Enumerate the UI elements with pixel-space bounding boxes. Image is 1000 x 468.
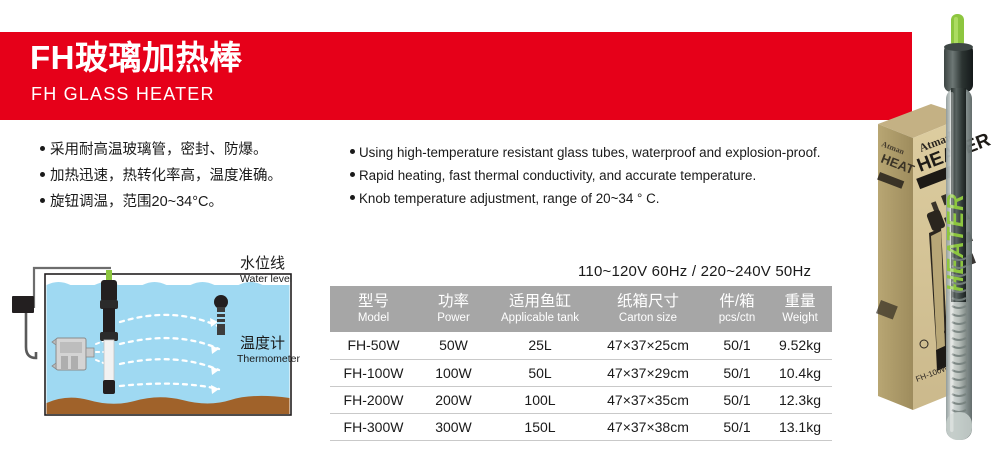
bullet-dot-icon [40,198,45,203]
cell-power: 100W [417,359,490,386]
column-header-pcs-per-ctn: 件/箱 pcs/ctn [706,286,768,332]
cell-weight: 9.52kg [768,332,832,359]
list-item: Using high-temperature resistant glass t… [350,143,860,162]
table-row: FH-100W 100W 50L 47×37×29cm 50/1 10.4kg [330,359,832,386]
cell-pcs: 50/1 [706,386,768,413]
bullet-dot-icon [350,195,355,200]
table-row: FH-200W 200W 100L 47×37×35cm 50/1 12.3kg [330,386,832,413]
water-level-label-en: Water level [240,273,292,285]
cell-pcs: 50/1 [706,413,768,440]
table-body: FH-50W 50W 25L 47×37×25cm 50/1 9.52kg FH… [330,332,832,440]
cell-model: FH-200W [330,386,417,413]
cell-carton: 47×37×38cm [590,413,706,440]
cell-power: 300W [417,413,490,440]
heater-rod-product: HEATER [942,14,973,440]
rod-black-cap [944,44,973,92]
feature-text: 采用耐高温玻璃管，密封、防爆。 [50,140,268,160]
cell-carton: 47×37×29cm [590,359,706,386]
controller-box-icon [12,296,34,313]
aquarium-diagram: 水位线 Water level 温度计 Thermometer [8,252,328,457]
table-row: FH-300W 300W 150L 47×37×38cm 50/1 13.1kg [330,413,832,440]
column-header-applicable-tank: 适用鱼缸 Applicable tank [490,286,590,332]
cell-carton: 47×37×35cm [590,386,706,413]
rod-bottom-tip [946,412,972,440]
list-item: 采用耐高温玻璃管，密封、防爆。 [40,140,340,160]
product-box: Atman HEATER [876,104,994,410]
power-cord-lower [26,308,36,358]
cell-tank: 25L [490,332,590,359]
bullet-dot-icon [350,149,355,154]
cell-weight: 13.1kg [768,413,832,440]
cell-weight: 10.4kg [768,359,832,386]
thermometer-label-cn: 温度计 [240,335,285,352]
table-header: 型号 Model 功率 Power 适用鱼缸 Applicable tank 纸… [330,286,832,332]
cell-tank: 150L [490,413,590,440]
rod-heater-label: HEATER [942,193,968,292]
list-item: 加热迅速，热转化率高，温度准确。 [40,166,340,186]
cell-weight: 12.3kg [768,386,832,413]
product-spec-sheet: FH玻璃加热棒 FH GLASS HEATER 采用耐高温玻璃管，密封、防爆。 … [0,0,1000,468]
bullet-dot-icon [350,172,355,177]
table-header-row: 型号 Model 功率 Power 适用鱼缸 Applicable tank 纸… [330,286,832,332]
column-header-model: 型号 Model [330,286,417,332]
list-item: Rapid heating, fast thermal conductivity… [350,166,860,185]
feature-list-cn: 采用耐高温玻璃管，密封、防爆。 加热迅速，热转化率高，温度准确。 旋钮调温，范围… [40,140,340,218]
feature-text: Using high-temperature resistant glass t… [359,143,820,162]
bullet-dot-icon [40,146,45,151]
voltage-spec: 110~120V 60Hz / 220~240V 50Hz [578,263,811,280]
feature-text: Knob temperature adjustment, range of 20… [359,189,660,208]
cell-tank: 50L [490,359,590,386]
cell-pcs: 50/1 [706,359,768,386]
list-item: Knob temperature adjustment, range of 20… [350,189,860,208]
table-row: FH-50W 50W 25L 47×37×25cm 50/1 9.52kg [330,332,832,359]
product-photo: Atman HEATER [855,0,1000,468]
specification-table: 型号 Model 功率 Power 适用鱼缸 Applicable tank 纸… [330,286,832,441]
cell-carton: 47×37×25cm [590,332,706,359]
water-level-label-cn: 水位线 [240,255,285,272]
page-title-cn: FH玻璃加热棒 [30,41,243,74]
list-item: 旋钮调温，范围20~34°C。 [40,192,340,212]
page-title-en: FH GLASS HEATER [31,85,215,103]
column-header-weight: 重量 Weight [768,286,832,332]
cell-tank: 100L [490,386,590,413]
feature-text: Rapid heating, fast thermal conductivity… [359,166,756,185]
rod-highlight [950,92,954,432]
column-header-carton-size: 纸箱尺寸 Carton size [590,286,706,332]
cell-power: 50W [417,332,490,359]
cell-pcs: 50/1 [706,332,768,359]
feature-list-en: Using high-temperature resistant glass t… [350,143,860,212]
feature-text: 旋钮调温，范围20~34°C。 [50,192,223,212]
cell-model: FH-300W [330,413,417,440]
cell-model: FH-50W [330,332,417,359]
column-header-power: 功率 Power [417,286,490,332]
cell-model: FH-100W [330,359,417,386]
bullet-dot-icon [40,172,45,177]
cell-power: 200W [417,386,490,413]
thermometer-label-en: Thermometer [237,353,301,365]
feature-text: 加热迅速，热转化率高，温度准确。 [50,166,282,186]
